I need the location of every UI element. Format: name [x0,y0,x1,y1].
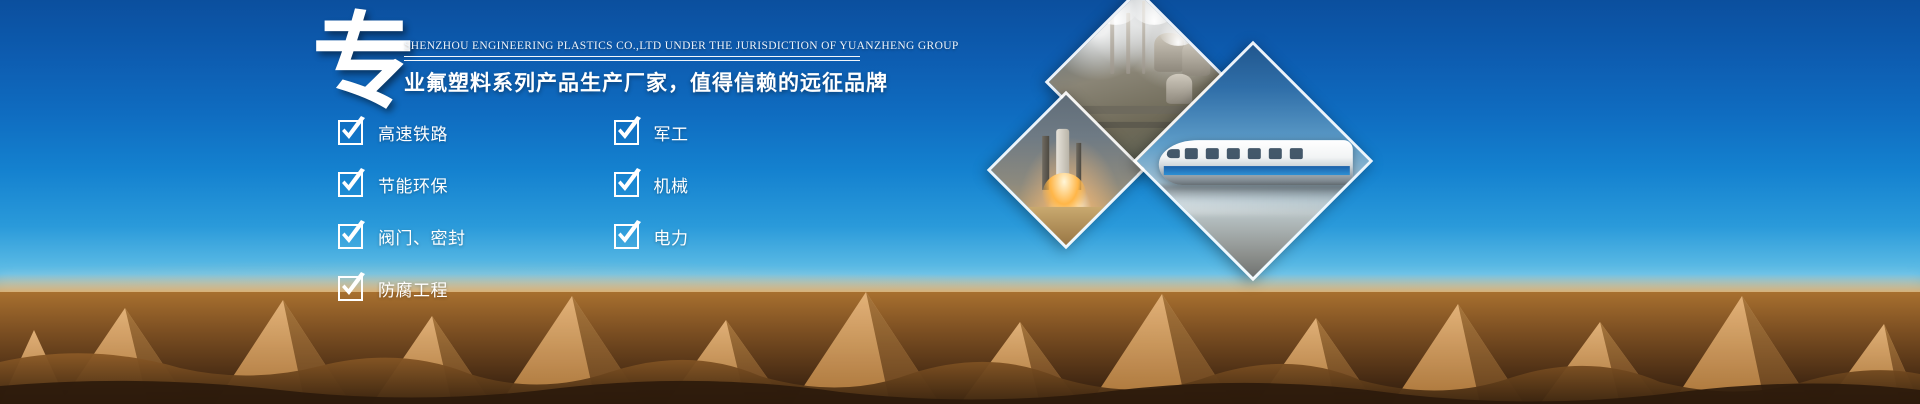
double-rule-divider [404,56,860,61]
feature-column-left: 高速铁路 节能环保 阀门、密封 防腐工程 [338,120,466,301]
chinese-tagline: 业氟塑料系列产品生产厂家，值得信赖的远征品牌 [404,67,964,97]
feature-item: 军工 [614,120,689,145]
checkbox-checked-icon [614,120,639,145]
feature-item: 防腐工程 [338,276,466,301]
feature-label: 机械 [654,172,689,197]
pyramid-skyline [0,234,1920,404]
headline-block: SHENZHOU ENGINEERING PLASTICS CO.,LTD UN… [404,40,964,97]
checkbox-checked-icon [338,276,363,301]
feature-item: 电力 [614,224,689,249]
feature-checklist: 高速铁路 节能环保 阀门、密封 防腐工程 [338,120,689,301]
feature-label: 节能环保 [378,172,448,197]
feature-item: 阀门、密封 [338,224,466,249]
checkbox-checked-icon [338,224,363,249]
photo-diamond-group [1010,6,1430,306]
checkbox-checked-icon [614,224,639,249]
feature-item: 高速铁路 [338,120,466,145]
feature-label: 高速铁路 [378,120,448,145]
feature-label: 电力 [654,224,689,249]
checkbox-checked-icon [338,172,363,197]
feature-label: 防腐工程 [378,276,448,301]
feature-label: 阀门、密封 [378,224,466,249]
feature-item: 机械 [614,172,689,197]
checkbox-checked-icon [338,120,363,145]
english-tagline: SHENZHOU ENGINEERING PLASTICS CO.,LTD UN… [404,40,964,52]
checkbox-checked-icon [614,172,639,197]
feature-item: 节能环保 [338,172,466,197]
promo-banner: 专 SHENZHOU ENGINEERING PLASTICS CO.,LTD … [0,0,1920,404]
feature-column-right: 军工 机械 电力 [614,120,689,301]
feature-label: 军工 [654,120,689,145]
